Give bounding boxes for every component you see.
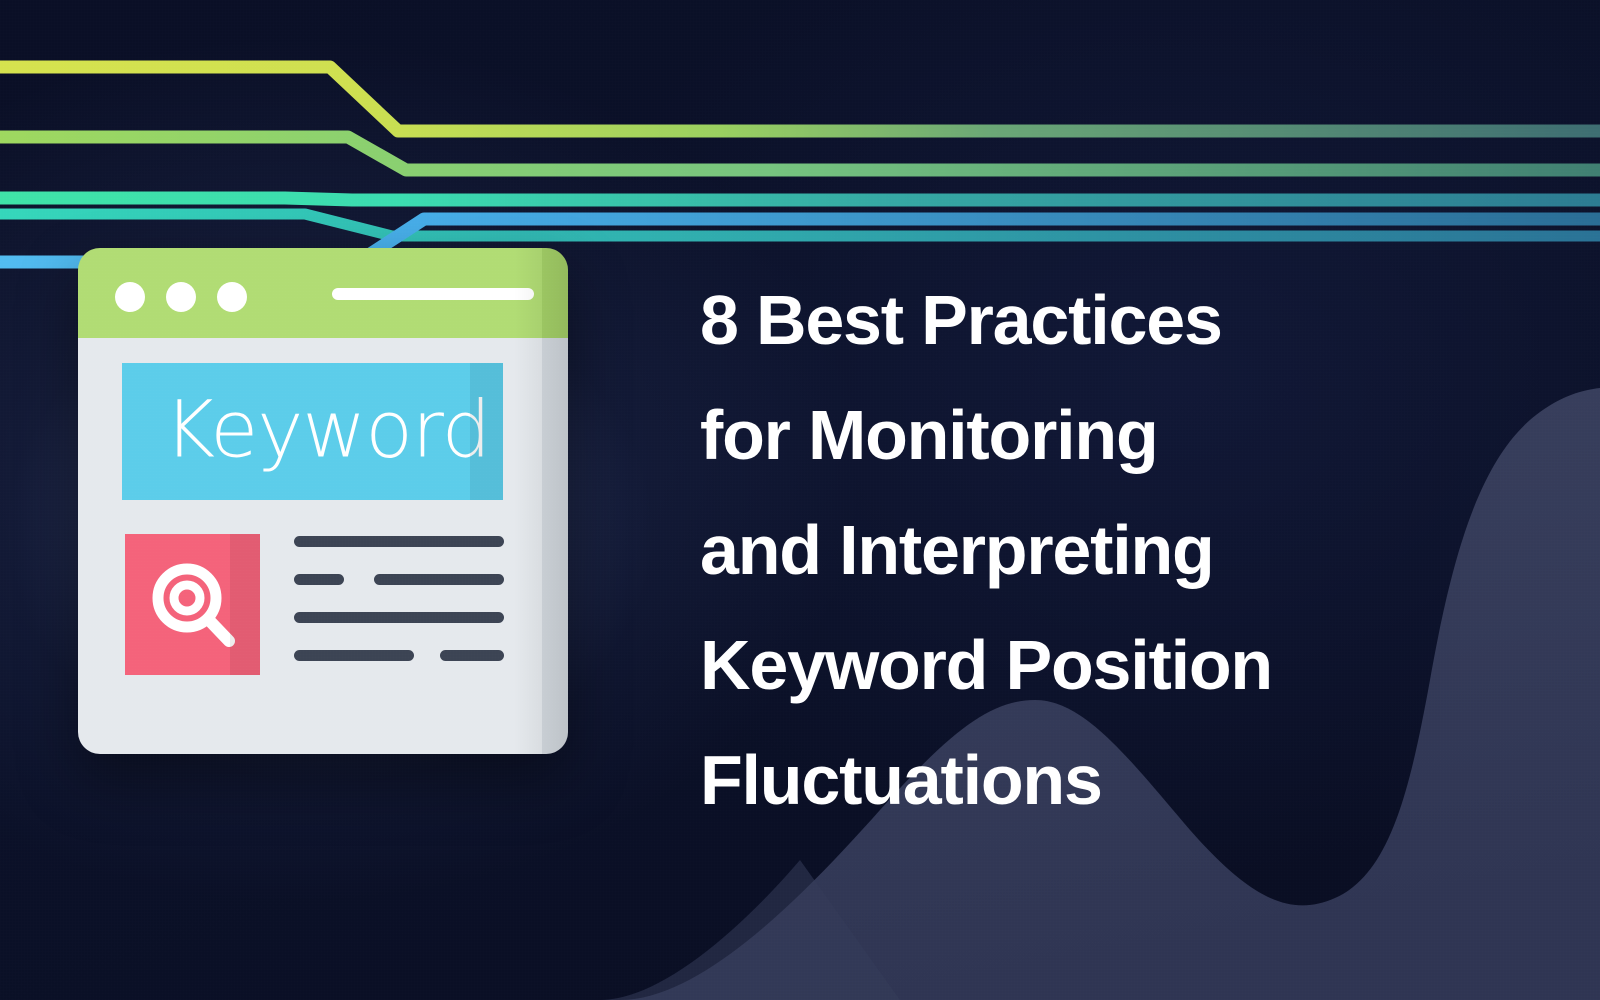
headline-line-5: Fluctuations xyxy=(700,723,1480,838)
address-bar xyxy=(332,288,534,300)
browser-titlebar xyxy=(78,248,568,338)
search-tile xyxy=(125,534,260,675)
titlebar-right-shadow xyxy=(542,248,568,338)
text-line-bar xyxy=(294,612,504,623)
headline-line-1: 8 Best Practices xyxy=(700,263,1480,378)
keyword-banner: Keyword xyxy=(122,363,503,500)
text-line-gap xyxy=(344,574,374,585)
text-line-bar xyxy=(294,650,414,661)
keyword-banner-label: Keyword xyxy=(164,391,490,469)
circuit-line-yellow-green xyxy=(0,67,1600,131)
headline-line-3: and Interpreting xyxy=(700,493,1480,608)
headline-line-4: Keyword Position xyxy=(700,608,1480,723)
cover-graphic-canvas: Keyword xyxy=(0,0,1600,1000)
keyword-banner-right-shadow xyxy=(470,363,503,500)
text-line-row xyxy=(294,650,504,661)
body-right-shadow xyxy=(542,338,568,754)
window-dot-1-icon xyxy=(115,282,145,312)
circuit-line-light-green xyxy=(0,137,1600,170)
text-line-row xyxy=(294,536,504,547)
text-line-bar xyxy=(294,536,504,547)
browser-window-illustration: Keyword xyxy=(78,248,568,754)
text-line-row xyxy=(294,612,504,623)
text-line-gap xyxy=(414,650,440,661)
text-line-row xyxy=(294,574,504,585)
window-dot-3-icon xyxy=(217,282,247,312)
text-line-bar xyxy=(294,574,344,585)
text-line-bar xyxy=(374,574,504,585)
page-title: 8 Best Practices for Monitoring and Inte… xyxy=(700,263,1480,838)
headline-line-2: for Monitoring xyxy=(700,378,1480,493)
window-dot-2-icon xyxy=(166,282,196,312)
browser-body: Keyword xyxy=(78,338,568,754)
content-text-lines xyxy=(294,536,504,661)
search-tile-right-shadow xyxy=(230,534,260,675)
magnifier-target-icon xyxy=(145,556,241,652)
text-line-bar xyxy=(440,650,504,661)
circuit-line-mint xyxy=(0,198,1600,200)
